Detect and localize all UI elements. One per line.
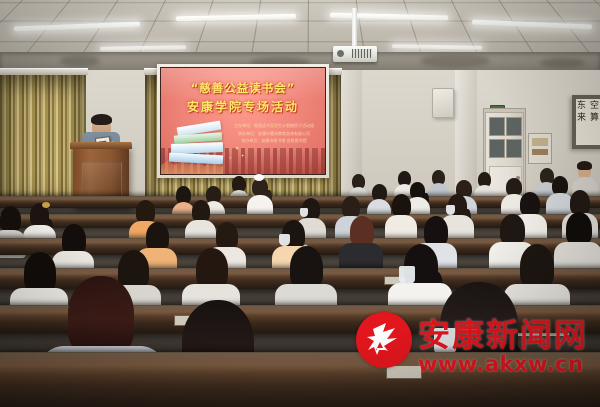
projector-lens-icon [337,50,344,57]
photo-scene: 东 来 空 算 ✦ ✦ ✦ “慈善公益读书会” 安康学院专场活动 主办单位：陈国… [0,0,600,407]
watermark-url: www.akxw.cn [418,352,583,376]
screen-title-line1: “慈善公益读书会” [161,80,325,96]
screen-subtitle-block: 主办单位：陈国读书及学生计划物资子活动组 承办单位：安康市慧泽教育咨询有限公司 … [231,122,317,145]
lectern-top [70,142,132,149]
bird-logo-icon [366,320,402,358]
projector-vent [352,49,372,58]
projector-mount-pole [352,8,357,48]
projection-screen: ✦ ✦ ✦ “慈善公益读书会” 安康学院专场活动 主办单位：陈国读书及学生计划物… [160,67,326,175]
curtain-rod [0,68,88,75]
sparkle-icon: ✦ [229,156,232,160]
door-glass-pane [489,117,505,136]
lectern-front-panel [82,162,122,198]
watermark: 安康新闻网 www.akxw.cn [352,306,590,386]
sparkle-icon: ✦ [235,146,239,152]
door-glass-pane [489,139,505,158]
calligraphy-char: 算 [590,113,599,122]
calligraphy-column: 空 算 [589,101,600,122]
screen-subtitle-line: 协办单位：安康市图书馆·宜联图书馆 [231,137,317,145]
presenter-hair [91,114,112,125]
calligraphy-column: 东 来 [576,101,587,122]
calligraphy-char: 来 [577,113,586,122]
screen-subtitle-line: 承办单位：安康市慧泽教育咨询有限公司 [231,130,317,138]
wall-notice-board [528,133,552,164]
door-glass-pane [506,117,522,136]
watermark-brand: 安康新闻网 [418,310,588,356]
hair-accessory [254,174,264,181]
sparkle-icon: ✦ [241,153,244,158]
screen-subtitle-line: 主办单位：陈国读书及学生计划物资子活动组 [231,122,317,130]
screen-title-line2: 安康学院专场活动 [161,98,325,115]
hair-accessory [42,202,50,208]
wall-speaker-icon [432,88,454,118]
calligraphy-char: 东 [577,101,586,110]
calligraphy-char: 空 [590,101,599,110]
framed-calligraphy: 东 来 空 算 [572,95,600,149]
door-glass-pane [506,139,522,158]
